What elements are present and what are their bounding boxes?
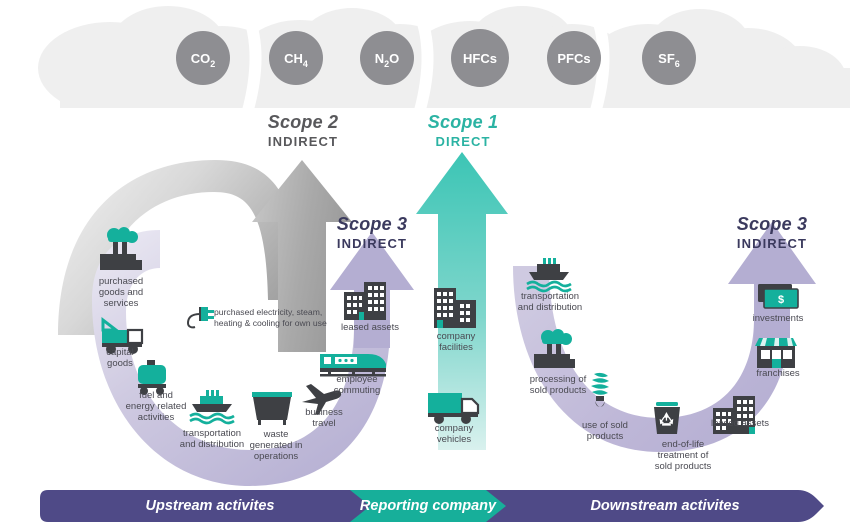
bar-label-reporting: Reporting company	[358, 498, 498, 514]
bar-label-upstream: Upstream activites	[95, 498, 325, 514]
bar-label-downstream: Downstream activites	[540, 498, 790, 514]
ghg-scopes-diagram: CO2 CH4 N2O HFCs PFCs SF6	[0, 0, 850, 530]
bottom-bar-layer	[0, 0, 850, 530]
